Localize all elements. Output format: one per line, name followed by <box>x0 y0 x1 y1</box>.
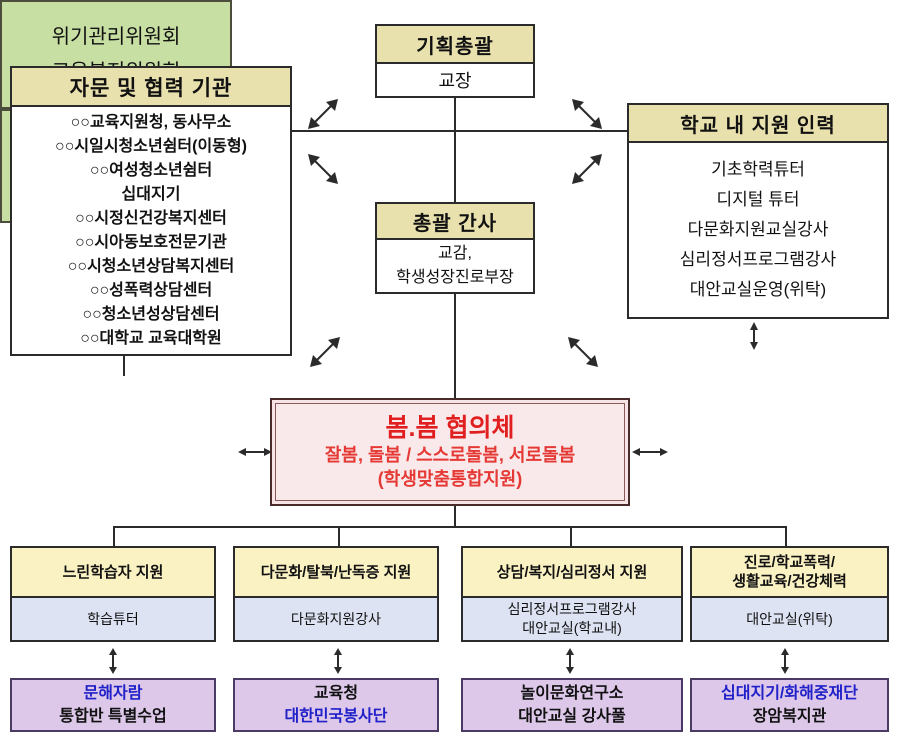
partner-2-line: 교육청 <box>314 682 358 705</box>
arrow-support-4-to-partner-4 <box>777 648 793 674</box>
advisory-item: ○○청소년성상담센터 <box>82 303 219 326</box>
partner-2-line: 대한민국봉사단 <box>284 705 387 728</box>
support-4-body-line: 대안교실(위탁) <box>746 610 833 629</box>
partner-4-line: 십대지기/화해중재단 <box>721 682 858 705</box>
left-committee-item: 위기관리위원회 <box>52 20 181 55</box>
advisory-agencies-box: 자문 및 협력 기관 ○○교육지원청, 동사무소 ○○시일시청소년쉼터(이동형)… <box>10 66 292 356</box>
advisory-item: ○○성폭력상담센터 <box>90 279 212 302</box>
support-4-header-line: 생활교육/건강체력 <box>732 572 847 591</box>
central-council-box: 봄.봄 협의체 잘봄, 돌봄 / 스스로돌봄, 서로돌봄 (학생맞춤통합지원) <box>270 398 630 506</box>
advisory-header: 자문 및 협력 기관 <box>12 68 290 107</box>
arrow-secretary-to-advisory <box>306 152 340 186</box>
org-chart-canvas: 기획총괄 교장 총괄 간사 교감, 학생성장진로부장 자문 및 협력 기관 ○○… <box>0 0 899 745</box>
central-council-note: (학생맞춤통합지원) <box>378 467 522 491</box>
arrow-council-to-staff <box>566 335 600 369</box>
support-1-header-line: 느린학습자 지원 <box>63 563 164 582</box>
support-column-2: 다문화/탈북/난독증 지원 다문화지원강사 <box>233 546 439 642</box>
staff-list: 기초학력튜터 디지털 튜터 다문화지원교실강사 심리정서프로그램강사 대안교실운… <box>629 143 887 317</box>
school-support-staff-box: 학교 내 지원 인력 기초학력튜터 디지털 튜터 다문화지원교실강사 심리정서프… <box>627 103 889 319</box>
planning-header: 기획총괄 <box>377 26 533 64</box>
support-3-header-line: 상담/복지/심리정서 지원 <box>497 563 648 582</box>
arrow-secretary-to-staff <box>570 152 604 186</box>
connector-secretary-to-council <box>454 294 456 400</box>
partner-box-2: 교육청 대한민국봉사단 <box>233 678 439 732</box>
support-3-body-line: 심리정서프로그램강사 <box>508 600 637 619</box>
planning-box: 기획총괄 교장 <box>375 24 535 98</box>
support-3-body-line: 대안교실(학교내) <box>522 619 621 638</box>
advisory-item: 십대지기 <box>122 183 181 206</box>
connector-support-drop-2 <box>338 526 340 546</box>
partner-box-3: 놀이문화연구소 대안교실 강사풀 <box>461 678 683 732</box>
central-council-subtitle: 잘봄, 돌봄 / 스스로돌봄, 서로돌봄 <box>325 443 575 467</box>
support-2-header-line: 다문화/탈북/난독증 지원 <box>261 563 412 582</box>
advisory-list: ○○교육지원청, 동사무소 ○○시일시청소년쉼터(이동형) ○○여성청소년쉼터 … <box>12 107 290 354</box>
connector-support-distribution-bar <box>113 526 785 528</box>
support-1-header: 느린학습자 지원 <box>12 548 214 598</box>
connector-advisory-to-left-committee <box>123 356 125 376</box>
support-2-header: 다문화/탈북/난독증 지원 <box>235 548 437 598</box>
support-2-body-line: 다문화지원강사 <box>291 610 381 629</box>
arrow-council-right-committee <box>632 444 668 460</box>
staff-item: 심리정서프로그램강사 <box>680 246 836 274</box>
advisory-item: ○○시청소년상담복지센터 <box>68 255 235 278</box>
advisory-item: ○○교육지원청, 동사무소 <box>71 111 232 134</box>
connector-support-drop-3 <box>570 526 572 546</box>
support-3-body: 심리정서프로그램강사 대안교실(학교내) <box>463 598 681 640</box>
support-3-header: 상담/복지/심리정서 지원 <box>463 548 681 598</box>
partner-3-line: 놀이문화연구소 <box>520 682 623 705</box>
secretary-box: 총괄 간사 교감, 학생성장진로부장 <box>375 202 535 294</box>
arrow-council-to-advisory <box>308 335 342 369</box>
advisory-item: ○○시일시청소년쉼터(이동형) <box>55 135 247 158</box>
support-column-4: 진로/학교폭력/ 생활교육/건강체력 대안교실(위탁) <box>690 546 889 642</box>
arrow-planning-to-advisory <box>306 97 340 131</box>
advisory-item: ○○시아동보호전문기관 <box>75 231 227 254</box>
staff-item: 기초학력튜터 <box>711 156 805 184</box>
central-council-inner: 봄.봄 협의체 잘봄, 돌봄 / 스스로돌봄, 서로돌봄 (학생맞춤통합지원) <box>275 403 625 501</box>
arrow-support-1-to-partner-1 <box>105 648 121 674</box>
arrow-council-left-committee <box>238 444 272 460</box>
secretary-body: 교감, 학생성장진로부장 <box>377 240 533 292</box>
advisory-item: ○○시정신건강복지센터 <box>75 207 227 230</box>
staff-item: 다문화지원교실강사 <box>688 216 829 244</box>
partner-1-line: 문해자람 <box>84 682 143 705</box>
partner-box-4: 십대지기/화해중재단 장암복지관 <box>690 678 889 732</box>
connector-support-drop-1 <box>113 526 115 546</box>
secretary-header: 총괄 간사 <box>377 204 533 240</box>
advisory-item: ○○대학교 교육대학원 <box>80 327 222 350</box>
advisory-item: ○○여성청소년쉼터 <box>90 159 212 182</box>
arrow-support-2-to-partner-2 <box>330 648 346 674</box>
support-1-body: 학습튜터 <box>12 598 214 640</box>
central-council-title: 봄.봄 협의체 <box>386 413 515 443</box>
staff-item: 대안교실운영(위탁) <box>690 276 826 304</box>
partner-3-line: 대안교실 강사풀 <box>518 705 626 728</box>
support-column-1: 느린학습자 지원 학습튜터 <box>10 546 216 642</box>
connector-planning-to-secretary <box>454 98 456 202</box>
staff-item: 디지털 튜터 <box>717 186 800 214</box>
partner-1-line: 통합반 특별수업 <box>59 705 167 728</box>
support-4-header: 진로/학교폭력/ 생활교육/건강체력 <box>692 548 887 598</box>
secretary-line: 교감, <box>438 242 472 266</box>
support-4-body: 대안교실(위탁) <box>692 598 887 640</box>
support-2-body: 다문화지원강사 <box>235 598 437 640</box>
partner-4-line: 장암복지관 <box>753 705 827 728</box>
partner-box-1: 문해자람 통합반 특별수업 <box>10 678 216 732</box>
planning-body-text: 교장 <box>438 67 471 93</box>
arrow-support-3-to-partner-3 <box>562 648 578 674</box>
staff-header: 학교 내 지원 인력 <box>629 105 887 143</box>
arrow-staff-to-council <box>746 322 762 350</box>
support-column-3: 상담/복지/심리정서 지원 심리정서프로그램강사 대안교실(학교내) <box>461 546 683 642</box>
planning-body: 교장 <box>377 64 533 96</box>
support-4-header-line: 진로/학교폭력/ <box>744 553 835 572</box>
connector-council-trunk <box>454 506 456 528</box>
support-1-body-line: 학습튜터 <box>87 610 139 629</box>
connector-support-drop-4 <box>785 526 787 546</box>
secretary-line: 학생성장진로부장 <box>396 266 514 290</box>
arrow-planning-to-staff <box>570 97 604 131</box>
